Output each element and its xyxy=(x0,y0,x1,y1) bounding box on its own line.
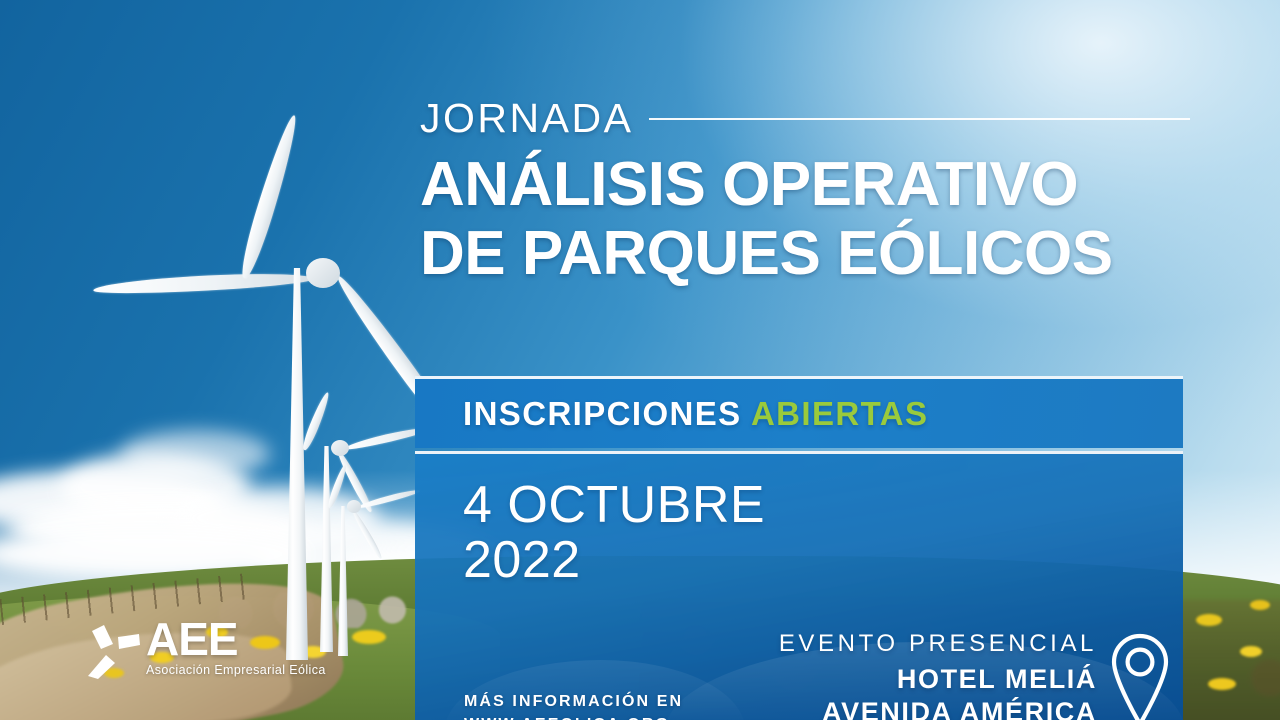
venue-line-2: AVENIDA AMÉRICA xyxy=(779,696,1097,720)
headline-block: JORNADA ANÁLISIS OPERATIVO DE PARQUES EÓ… xyxy=(420,98,1190,285)
more-info[interactable]: MÁS INFORMACIÓN EN WWW.AEEOLICA.ORG xyxy=(464,690,683,720)
event-date-year: 2022 xyxy=(463,533,765,588)
registration-text: INSCRIPCIONES ABIERTAS xyxy=(463,395,928,433)
more-info-label: MÁS INFORMACIÓN EN xyxy=(464,690,683,713)
status-badge: ABIERTAS xyxy=(751,395,928,432)
website-url[interactable]: WWW.AEEOLICA.ORG xyxy=(464,713,683,720)
venue-block: EVENTO PRESENCIAL HOTEL MELIÁ AVENIDA AM… xyxy=(779,630,1097,720)
logo-tagline: Asociación Empresarial Eólica xyxy=(146,663,326,677)
event-kicker: JORNADA xyxy=(420,98,633,139)
gorse-flowers xyxy=(1196,614,1222,626)
gorse-flowers xyxy=(352,630,386,644)
page-title: ANÁLISIS OPERATIVO DE PARQUES EÓLICOS xyxy=(420,153,1190,285)
kicker-row: JORNADA xyxy=(420,98,1190,139)
logo-acronym: AEE xyxy=(146,618,326,660)
gorse-flowers xyxy=(1240,646,1262,657)
registration-banner[interactable]: INSCRIPCIONES ABIERTAS xyxy=(415,376,1183,448)
turbine-hub xyxy=(306,258,340,288)
registration-label: INSCRIPCIONES xyxy=(463,395,742,432)
event-date: 4 OCTUBRE 2022 xyxy=(463,478,765,588)
event-format: EVENTO PRESENCIAL xyxy=(779,630,1097,659)
turbine-hub xyxy=(347,500,361,513)
location-pin-icon xyxy=(1109,632,1171,720)
gorse-flowers xyxy=(1208,678,1236,690)
wind-turbine-logo-icon xyxy=(82,622,144,680)
title-line-1: ANÁLISIS OPERATIVO xyxy=(420,150,1078,219)
event-date-day: 4 OCTUBRE xyxy=(463,476,765,534)
info-panel: INSCRIPCIONES ABIERTAS 4 OCTUBRE 2022 MÁ… xyxy=(415,376,1183,720)
event-poster: JORNADA ANÁLISIS OPERATIVO DE PARQUES EÓ… xyxy=(0,0,1280,720)
title-line-2: DE PARQUES EÓLICOS xyxy=(420,222,1190,285)
venue-name: HOTEL MELIÁ AVENIDA AMÉRICA xyxy=(779,663,1097,720)
kicker-divider xyxy=(649,118,1190,120)
venue-line-1: HOTEL MELIÁ xyxy=(779,663,1097,696)
gorse-flowers xyxy=(1250,600,1270,610)
turbine-hub xyxy=(331,440,349,456)
details-panel: 4 OCTUBRE 2022 MÁS INFORMACIÓN EN WWW.AE… xyxy=(415,451,1183,720)
aee-logo: AEE Asociación Empresarial Eólica xyxy=(82,618,326,680)
